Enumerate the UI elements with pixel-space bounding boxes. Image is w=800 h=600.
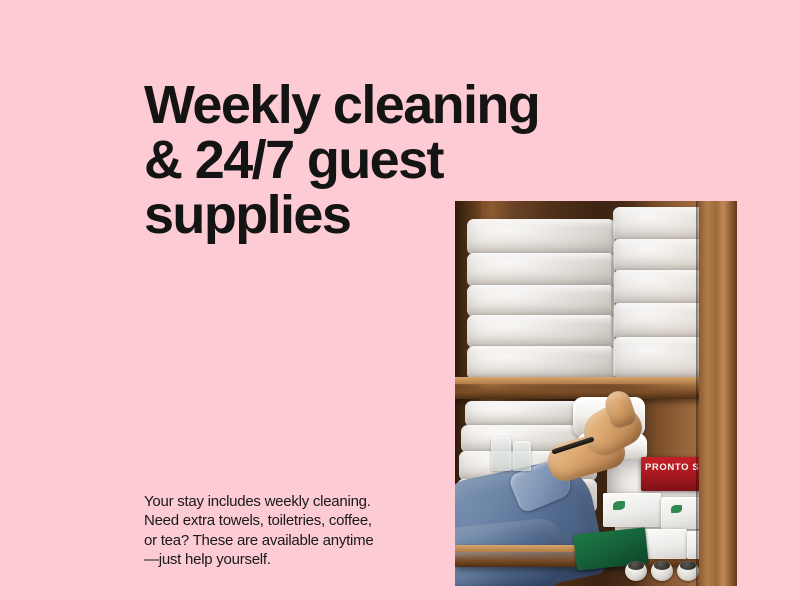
amenity-bottle [491, 437, 511, 471]
towel-seam [611, 209, 614, 379]
pronto-label: PRONTO S [645, 462, 699, 473]
amenity-bottle [513, 441, 531, 471]
towel-stack-item [467, 285, 615, 317]
coffee-jar-lid [628, 561, 644, 570]
cabinet-frame [699, 201, 737, 586]
shelf-board-face [455, 377, 715, 384]
body-paragraph: Your stay includes weekly cleaning. Need… [144, 492, 406, 570]
leaf-motif-icon [671, 505, 682, 513]
towel-stack-item [467, 253, 615, 287]
towel-stack-item [467, 315, 615, 348]
toiletry-box [643, 529, 687, 559]
promo-card: Weekly cleaning & 24/7 guest supplies Yo… [0, 0, 800, 600]
linen-closet-photo: PRONTO S [455, 201, 737, 586]
towel-stack-item [467, 346, 615, 380]
coffee-jar-lid [654, 561, 670, 570]
toiletry-box [603, 493, 661, 527]
towel-stack-item [467, 219, 615, 255]
coffee-jar-lid [680, 561, 696, 570]
leaf-motif-icon [613, 501, 625, 510]
